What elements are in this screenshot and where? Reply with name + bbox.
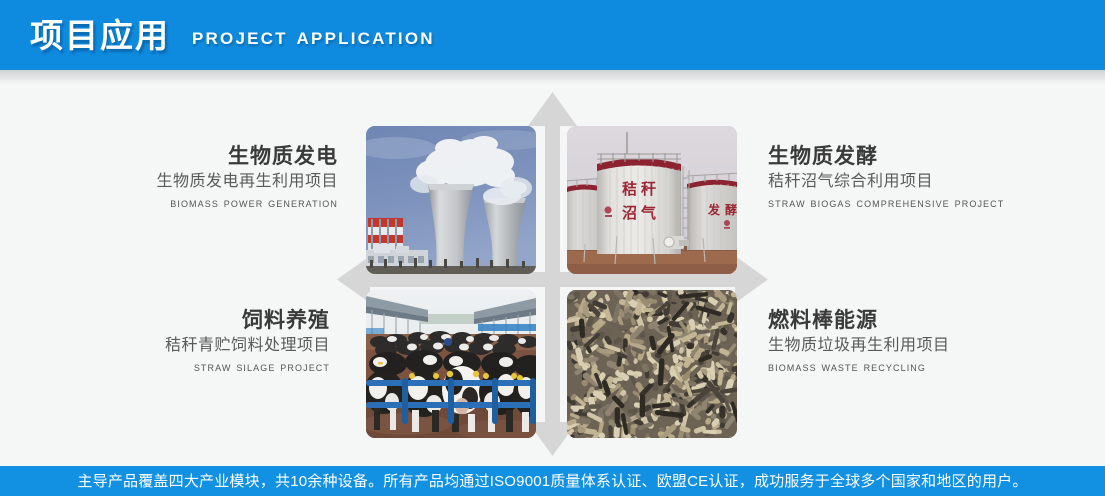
label-biomass-fermentation: 生物质发酵 秸秆沼气综合利用项目 STRAW BIOGAS COMPREHENS… — [768, 144, 1105, 214]
quadrant-title-en: STRAW BIOGAS COMPREHENSIVE PROJECT — [768, 193, 1105, 213]
tank-text-cn-4: 气 — [640, 204, 656, 222]
quadrant-title-cn: 生物质发电 — [0, 144, 338, 170]
fuel-pellet — [647, 299, 657, 303]
tank-text-cn-1: 秸 — [622, 180, 637, 198]
tank-text-cn-5: 发 — [707, 202, 721, 217]
right-arrow-icon — [735, 256, 768, 303]
quadrant-subtitle-cn: 生物质垃圾再生利用项目 — [768, 334, 1105, 357]
tank-text-cn-6: 酵 — [725, 202, 737, 217]
fuel-pellet — [614, 407, 620, 424]
quadrant-title-en: BIOMASS WASTE RECYCLING — [768, 357, 1105, 377]
horizontal-shaft — [358, 272, 748, 287]
up-arrow-icon — [528, 92, 577, 126]
quadrant-title-cn: 生物质发酵 — [768, 144, 1105, 170]
biogas-storage-tanks-art: 秸 秆 沼 气 发 酵 — [567, 126, 737, 274]
fuel-pellet — [570, 406, 584, 410]
page-title-cn: 项目应用 — [30, 19, 170, 52]
header-shadow — [0, 70, 1105, 84]
project-application-diagram: 秸 秆 沼 气 发 酵 — [0, 84, 1105, 466]
fuel-pellet — [589, 404, 602, 409]
dairy-cattle-feedlot-art — [366, 290, 536, 438]
biomass-fuel-pellets-art — [567, 290, 737, 438]
quadrant-title-en: BIOMASS POWER GENERATION — [0, 193, 338, 213]
fuel-pellet — [711, 413, 717, 419]
tank-text-cn-3: 沼 — [622, 204, 637, 222]
footer-text: 主导产品覆盖四大产业模块，共10余种设备。所有产品均通过ISO9001质量体系认… — [77, 474, 1027, 489]
fuel-pellet — [569, 335, 577, 341]
label-feed-breeding: 饲料养殖 秸秆青贮饲料处理项目 STRAW SILAGE PROJECT — [0, 308, 330, 378]
fuel-pellet — [686, 343, 694, 350]
quadrant-title-en: STRAW SILAGE PROJECT — [0, 357, 330, 377]
power-plant-cooling-towers-art — [366, 126, 536, 274]
image-fuel-rod-energy — [567, 290, 737, 438]
tank-text-cn-2: 秆 — [641, 180, 656, 198]
quadrant-subtitle-cn: 生物质发电再生利用项目 — [0, 170, 338, 193]
image-biomass-power-generation — [366, 126, 536, 274]
image-biomass-fermentation: 秸 秆 沼 气 发 酵 — [567, 126, 737, 274]
image-feed-breeding — [366, 290, 536, 438]
quadrant-title-cn: 饲料养殖 — [0, 308, 330, 334]
page-footer: 主导产品覆盖四大产业模块，共10余种设备。所有产品均通过ISO9001质量体系认… — [0, 466, 1105, 496]
quadrant-subtitle-cn: 秸秆青贮饲料处理项目 — [0, 334, 330, 357]
fuel-pellet — [640, 394, 646, 417]
fuel-pellet — [719, 405, 726, 418]
arrow-cross — [0, 84, 1105, 466]
quadrant-subtitle-cn: 秸秆沼气综合利用项目 — [768, 170, 1105, 193]
page-title-en: PROJECT APPLICATION — [192, 25, 435, 49]
page-header: 项目应用 PROJECT APPLICATION — [0, 0, 1105, 70]
quadrant-title-cn: 燃料棒能源 — [768, 308, 1105, 334]
label-biomass-power-generation: 生物质发电 生物质发电再生利用项目 BIOMASS POWER GENERATI… — [0, 144, 338, 214]
label-fuel-rod-energy: 燃料棒能源 生物质垃圾再生利用项目 BIOMASS WASTE RECYCLIN… — [768, 308, 1105, 378]
